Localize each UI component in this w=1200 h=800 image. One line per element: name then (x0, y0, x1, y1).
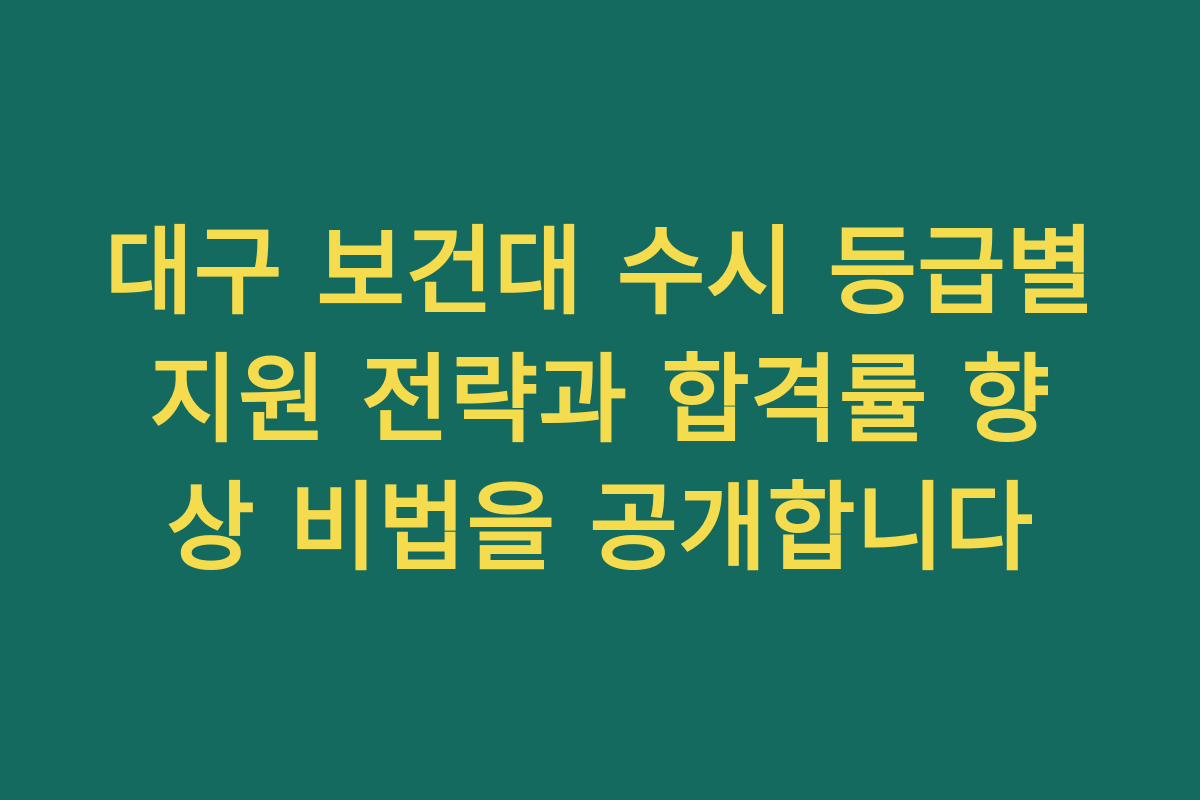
headline-line-2: 지원 전략과 합격률 향 (80, 336, 1120, 464)
headline-line-3: 상 비법을 공개합니다 (80, 464, 1120, 592)
headline-line-1: 대구 보건대 수시 등급별 (80, 208, 1120, 336)
page-title: 대구 보건대 수시 등급별 지원 전략과 합격률 향 상 비법을 공개합니다 (80, 208, 1120, 592)
banner-canvas: 대구 보건대 수시 등급별 지원 전략과 합격률 향 상 비법을 공개합니다 (0, 0, 1200, 800)
